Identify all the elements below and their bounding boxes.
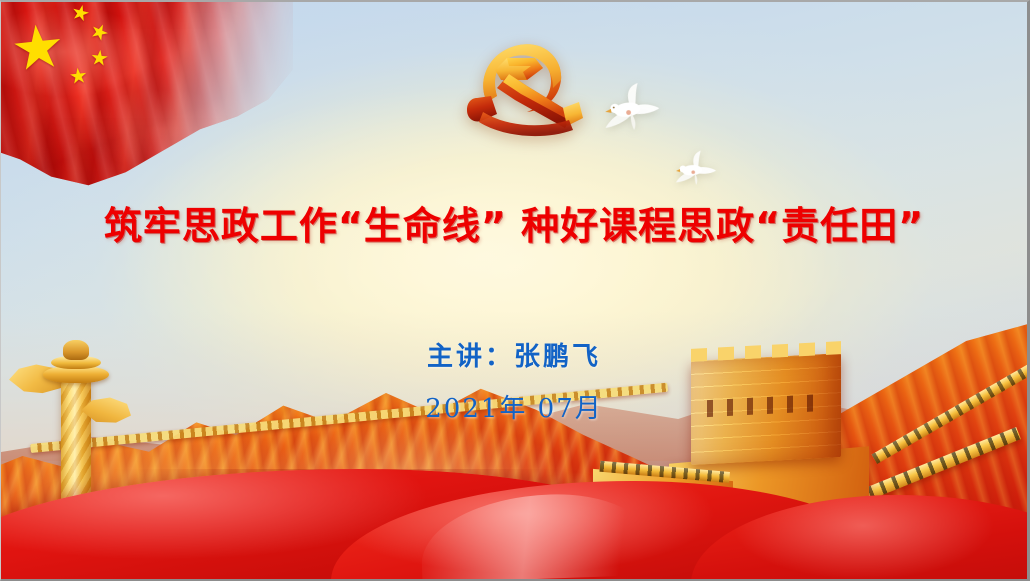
flag-star-small-3-icon: ★	[89, 47, 110, 70]
red-silk-ribbon	[1, 469, 1027, 579]
flag-star-large-icon: ★	[8, 15, 68, 80]
chinese-flag-graphic: ★ ★ ★ ★ ★	[0, 0, 293, 211]
flag-star-small-4-icon: ★	[68, 65, 89, 88]
dove-icon-2	[672, 148, 721, 189]
date-line: 2021年 07月	[1, 388, 1027, 425]
slide-title: 筑牢思政工作“生命线” 种好课程思政“责任田”	[1, 195, 1027, 250]
presenter-line: 主讲：张鹏飞	[1, 336, 1027, 373]
dove-icon-1	[598, 78, 667, 138]
cpc-emblem-icon	[453, 24, 583, 144]
presentation-slide: ★ ★ ★ ★ ★	[0, 0, 1030, 581]
